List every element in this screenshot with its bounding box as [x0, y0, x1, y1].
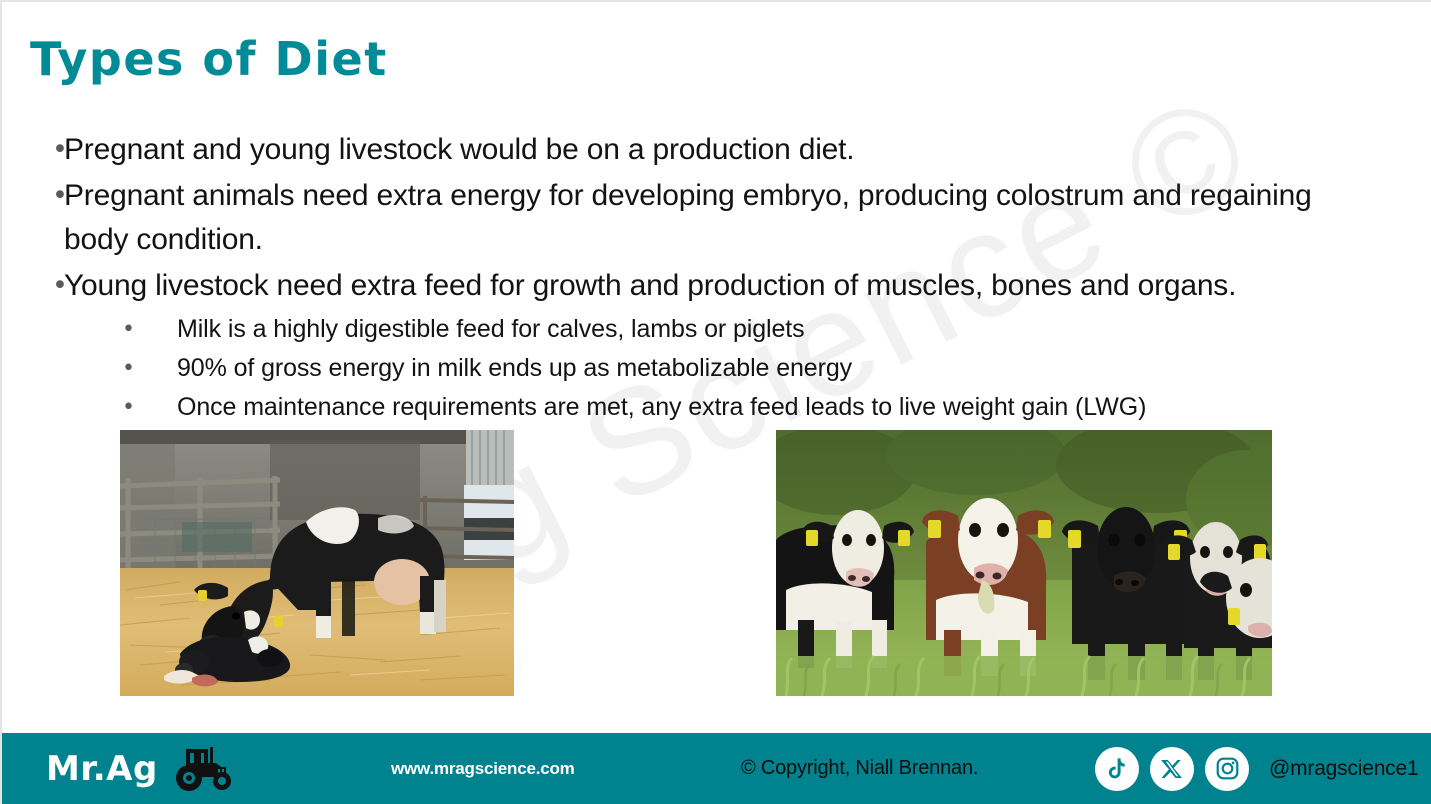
sub-bullet-item: • Milk is a highly digestible feed for c… [2, 310, 1412, 349]
slide-body: • Pregnant and young livestock would be … [2, 128, 1412, 427]
bullet-marker-icon: • [2, 128, 64, 172]
social-handle: @mragscience1 [1269, 757, 1418, 781]
slide-canvas: Ag Science © Types of Diet • Pregnant an… [0, 0, 1431, 804]
main-bullet-text: Pregnant and young livestock would be on… [64, 128, 1412, 172]
main-bullet-item: • Pregnant and young livestock would be … [2, 128, 1412, 172]
footer-bar: Mr.Ag [2, 733, 1431, 804]
x-glyph [1160, 757, 1184, 781]
main-bullet-item: • Young livestock need extra feed for gr… [2, 264, 1412, 308]
sub-bullet-text: 90% of gross energy in milk ends up as m… [177, 349, 1412, 388]
bullet-marker-icon: • [2, 174, 64, 218]
brand-logo-text: Mr.Ag [46, 752, 158, 786]
instagram-glyph [1215, 756, 1240, 781]
social-links: @mragscience1 [1095, 733, 1418, 804]
tractor-icon [170, 745, 238, 793]
brand-logo[interactable]: Mr.Ag [46, 733, 238, 804]
tiktok-glyph [1104, 756, 1130, 782]
image-young-cattle-pasture [776, 430, 1272, 696]
cow-with-calf-illustration [120, 430, 514, 696]
main-bullet-item: • Pregnant animals need extra energy for… [2, 174, 1412, 262]
instagram-icon[interactable] [1205, 747, 1249, 791]
main-bullet-text: Pregnant animals need extra energy for d… [64, 174, 1412, 262]
footer-website-url[interactable]: www.mragscience.com [391, 733, 575, 804]
tiktok-icon[interactable] [1095, 747, 1139, 791]
bullet-marker-icon: • [2, 349, 177, 388]
sub-bullet-text: Milk is a highly digestible feed for cal… [177, 310, 1412, 349]
sub-bullet-text: Once maintenance requirements are met, a… [177, 388, 1412, 427]
image-cow-with-newborn-calf [120, 430, 514, 696]
sub-bullet-item: • 90% of gross energy in milk ends up as… [2, 349, 1412, 388]
main-bullet-text: Young livestock need extra feed for grow… [64, 264, 1412, 308]
cattle-herd-illustration [776, 430, 1272, 696]
x-twitter-icon[interactable] [1150, 747, 1194, 791]
bullet-marker-icon: • [2, 310, 177, 349]
page-title: Types of Diet [30, 32, 388, 86]
bullet-marker-icon: • [2, 388, 177, 427]
footer-copyright: © Copyright, Niall Brennan. [741, 733, 978, 804]
sub-bullet-item: • Once maintenance requirements are met,… [2, 388, 1412, 427]
bullet-marker-icon: • [2, 264, 64, 308]
